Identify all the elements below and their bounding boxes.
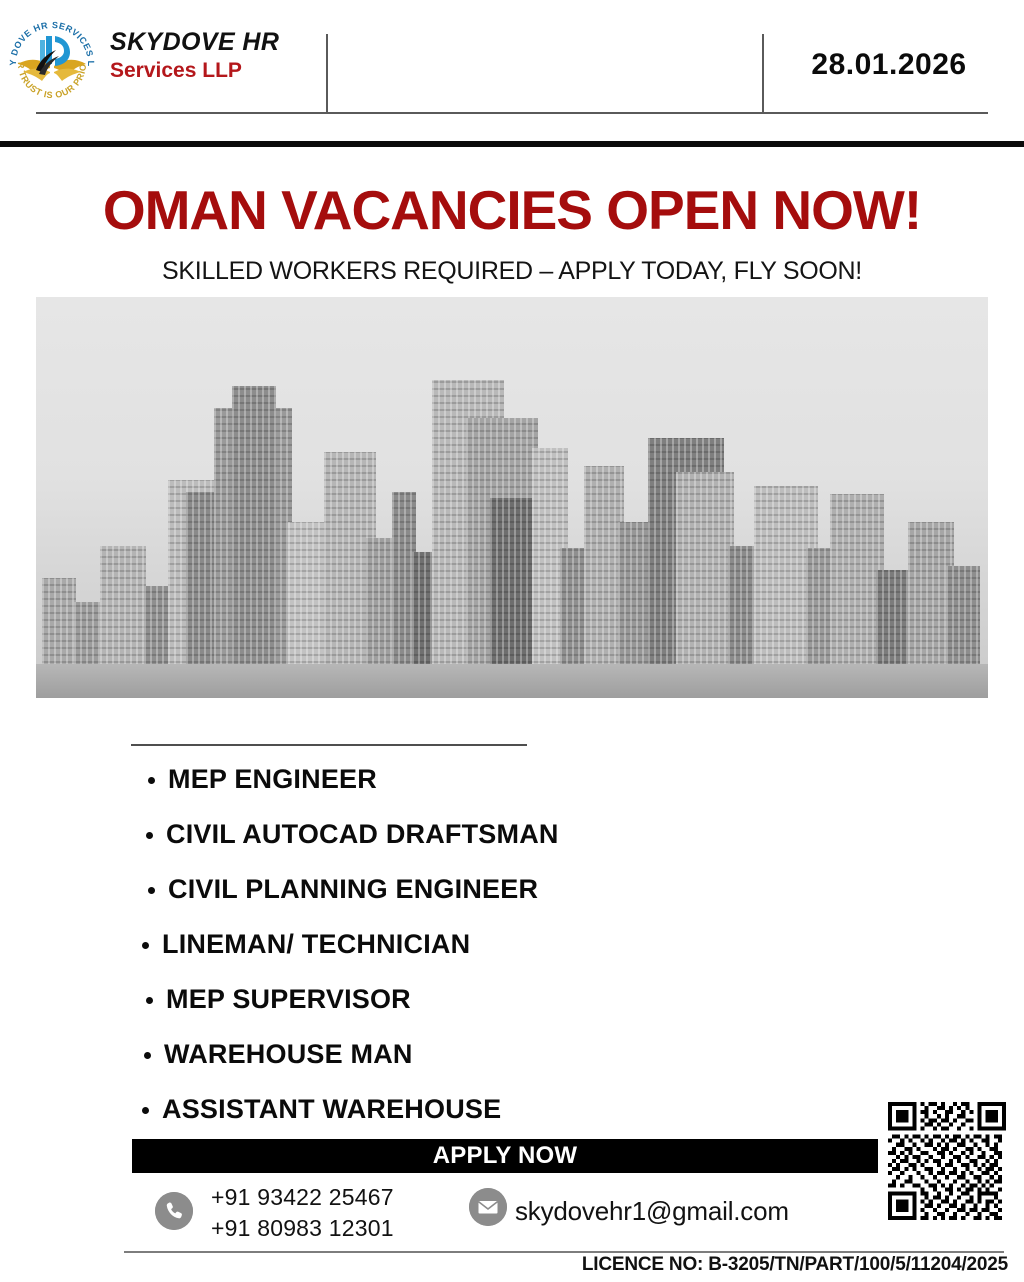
job-title: MEP ENGINEER bbox=[168, 764, 377, 794]
brand-name: SKYDOVE HR Services LLP bbox=[110, 28, 320, 83]
poster-canvas: SKY DOVE HR SERVICES LLP YOUR TRUST IS O… bbox=[0, 0, 1024, 1282]
phone-icon[interactable] bbox=[155, 1192, 193, 1230]
job-list: MEP ENGINEER CIVIL AUTOCAD DRAFTSMAN CIV… bbox=[138, 752, 898, 1137]
apply-now-button[interactable]: APPLY NOW bbox=[132, 1139, 878, 1173]
job-title: WAREHOUSE MAN bbox=[164, 1039, 413, 1069]
list-item: MEP SUPERVISOR bbox=[138, 972, 898, 1027]
city-skyline-photo bbox=[36, 297, 988, 698]
bullet-icon bbox=[142, 1107, 149, 1114]
job-list-rule bbox=[131, 744, 527, 746]
phone-number-secondary[interactable]: +91 80983 12301 bbox=[211, 1213, 461, 1244]
header-baseline-rule bbox=[36, 112, 988, 114]
job-title: ASSISTANT WAREHOUSE bbox=[162, 1094, 501, 1124]
bullet-icon bbox=[148, 887, 155, 894]
licence-number: LICENCE NO: B-3205/TN/PART/100/5/11204/2… bbox=[0, 1254, 1008, 1276]
apply-now-label: APPLY NOW bbox=[132, 1139, 878, 1173]
list-item: CIVIL PLANNING ENGINEER bbox=[138, 862, 898, 917]
email-address[interactable]: skydovehr1@gmail.com bbox=[515, 1196, 789, 1227]
job-title: CIVIL AUTOCAD DRAFTSMAN bbox=[166, 819, 559, 849]
page-subtitle: SKILLED WORKERS REQUIRED – APPLY TODAY, … bbox=[0, 257, 1024, 286]
header-thick-separator bbox=[0, 141, 1024, 147]
poster-date: 28.01.2026 bbox=[764, 48, 1014, 82]
building bbox=[232, 386, 276, 698]
list-item: WAREHOUSE MAN bbox=[138, 1027, 898, 1082]
brand-line-primary: SKYDOVE HR bbox=[110, 28, 320, 56]
phone-numbers: +91 93422 25467 +91 80983 12301 bbox=[211, 1182, 461, 1244]
bullet-icon bbox=[148, 777, 155, 784]
list-item: MEP ENGINEER bbox=[138, 752, 898, 807]
list-item: ASSISTANT WAREHOUSE bbox=[138, 1082, 898, 1137]
photo-foreground bbox=[36, 664, 988, 698]
brand-line-secondary: Services LLP bbox=[110, 58, 320, 83]
job-title: LINEMAN/ TECHNICIAN bbox=[162, 929, 470, 959]
bullet-icon bbox=[142, 942, 149, 949]
list-item: LINEMAN/ TECHNICIAN bbox=[138, 917, 898, 972]
bullet-icon bbox=[144, 1052, 151, 1059]
job-title: CIVIL PLANNING ENGINEER bbox=[168, 874, 538, 904]
contact-block: +91 93422 25467 +91 80983 12301 skydoveh… bbox=[132, 1178, 878, 1244]
footer-rule bbox=[124, 1251, 1004, 1253]
skydove-wings-logo-icon: SKY DOVE HR SERVICES LLP YOUR TRUST IS O… bbox=[6, 14, 98, 106]
page-title: OMAN VACANCIES OPEN NOW! bbox=[0, 178, 1024, 242]
job-title: MEP SUPERVISOR bbox=[166, 984, 411, 1014]
envelope-icon[interactable] bbox=[469, 1188, 507, 1226]
list-item: CIVIL AUTOCAD DRAFTSMAN bbox=[138, 807, 898, 862]
qr-code-icon[interactable] bbox=[888, 1092, 1006, 1230]
poster-header: SKY DOVE HR SERVICES LLP YOUR TRUST IS O… bbox=[0, 0, 1024, 141]
header-divider-left bbox=[326, 34, 328, 114]
bullet-icon bbox=[146, 832, 153, 839]
phone-number-primary[interactable]: +91 93422 25467 bbox=[211, 1182, 461, 1213]
bullet-icon bbox=[146, 997, 153, 1004]
